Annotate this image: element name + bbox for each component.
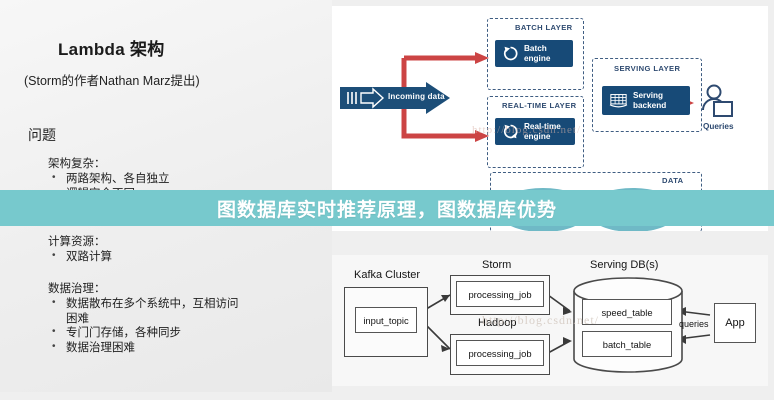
page-root: Lambda 架构 (Storm的作者Nathan Marz提出) 问题 架构复… [0,0,774,400]
kafka-cluster-label: Kafka Cluster [354,269,420,281]
slide-title: Lambda 架构 [58,35,165,60]
serving-backend-node: Serving backend [602,86,690,115]
slide-subtitle: (Storm的作者Nathan Marz提出) [24,70,200,89]
batch-engine-node: Batch engine [495,40,573,67]
list-item: 两路架构、各自独立 [48,172,170,187]
serving-db-label: Serving DB(s) [590,259,658,271]
batch-engine-label: Batch engine [524,44,550,63]
queries-label: Queries [703,122,734,131]
incoming-data-arrow: Incoming data [340,82,448,112]
bullet-list-compute: 双路计算 [48,250,112,265]
group-heading-architecture: 架构复杂： [48,155,106,171]
list-item: 专门门存储，各种同步 [48,326,241,341]
batch-layer-label: BATCH LAYER [515,23,573,32]
title-banner: 图数据库实时推荐原理，图数据库优势 [0,190,774,226]
incoming-data-label: Incoming data [388,92,445,101]
realtime-layer-label: REAL-TIME LAYER [502,101,577,110]
storm-label: Storm [482,259,511,271]
watermark-text: http://blog.csdn.net/ [472,124,581,136]
group-heading-compute: 计算资源： [48,233,106,249]
section-heading-problems: 问题 [28,125,56,145]
serving-backend-label: Serving backend [633,91,666,110]
serving-layer-label: SERVING LAYER [614,64,680,73]
bullet-list-governance: 数据散布在多个系统中，互相访问困难 专门门存储，各种同步 数据治理困难 [48,297,241,355]
hadoop-processing-job-node: processing_job [456,340,544,366]
list-item: 数据散布在多个系统中，互相访问困难 [48,297,241,326]
app-node: App [714,303,756,343]
data-layer-label: DATA [662,176,684,185]
group-heading-governance: 数据治理： [48,280,106,296]
storm-processing-job-node: processing_job [456,281,544,307]
watermark-text: http://blog.csdn.net/ [482,313,599,328]
input-topic-node: input_topic [355,307,417,333]
queries-edge-label: queries [679,319,709,329]
kafka-storm-pipeline-diagram: Kafka Cluster input_topic Storm processi… [332,255,768,386]
list-item: 数据治理困难 [48,341,241,356]
refresh-cycle-icon [502,45,519,62]
queries-user-icon [698,84,738,120]
list-item: 双路计算 [48,250,112,265]
database-grid-icon [609,92,628,109]
banner-title: 图数据库实时推荐原理，图数据库优势 [217,195,557,222]
batch-table-node: batch_table [582,331,672,357]
